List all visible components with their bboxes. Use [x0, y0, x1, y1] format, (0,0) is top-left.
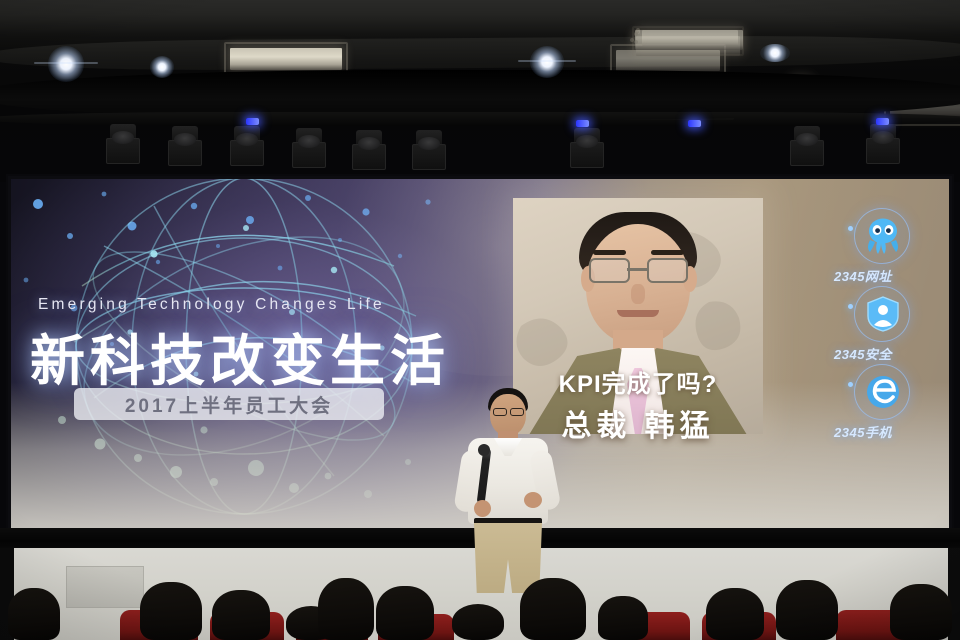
stage-light-fixture	[106, 124, 140, 164]
presenter-hand-left	[474, 500, 491, 517]
audience-head	[520, 578, 586, 640]
ceiling-band	[0, 35, 960, 72]
stage-light-fixture	[168, 126, 202, 166]
portrait-glasses-bridge	[627, 268, 649, 271]
audience-head	[452, 604, 504, 640]
product-logo-item: 2345安全	[830, 286, 952, 356]
stage-light-fixture	[866, 124, 900, 164]
presenter-glasses	[493, 408, 507, 416]
auditorium-ceiling	[0, 0, 960, 182]
product-logo-list: 2345网址 2345安全	[830, 208, 952, 442]
audience-head	[140, 582, 202, 640]
ceiling-spotlight	[150, 56, 174, 78]
ceiling-light-panel-frame	[634, 40, 638, 44]
ceiling-rail	[0, 112, 960, 126]
presenter-hand-right	[524, 492, 542, 508]
ceiling-spotlight	[530, 46, 564, 78]
octopus-icon	[864, 216, 902, 256]
product-logo-item: 2345网址	[830, 208, 952, 278]
stage-light-fixture	[570, 128, 604, 168]
portrait-nose	[631, 284, 645, 304]
stage-light-led	[246, 118, 259, 125]
ceiling-light-panel-frame	[634, 32, 638, 36]
audience-head	[706, 588, 764, 640]
portrait-eyebrow	[651, 250, 684, 255]
stage-light-fixture	[790, 126, 824, 166]
portrait-eyebrow	[593, 250, 626, 255]
slide-subtitle: 2017上半年员工大会	[74, 388, 384, 420]
portrait-mouth	[617, 310, 659, 317]
stage-light-fixture	[412, 130, 446, 170]
audience-head	[890, 584, 952, 640]
product-logo-label: 2345网址	[834, 266, 952, 285]
audience-head	[776, 580, 838, 640]
spotlight-flare	[518, 60, 576, 62]
stage-light-fixture	[292, 128, 326, 168]
audience-head	[598, 596, 648, 640]
stage-light-fixture	[230, 126, 264, 166]
audience-head	[8, 588, 60, 640]
product-logo-label: 2345手机	[834, 422, 952, 441]
product-logo-label: 2345安全	[834, 344, 952, 363]
slide-title: 新科技改变生活	[30, 316, 490, 396]
stage-light-led	[688, 120, 701, 127]
audience-head	[212, 590, 270, 640]
logo-orbit-dot	[848, 226, 853, 231]
microphone-head	[478, 444, 490, 456]
audience-head	[318, 578, 374, 640]
portrait-glasses	[647, 258, 688, 283]
ceiling-spotlight	[760, 44, 790, 62]
seated-audience	[0, 556, 960, 640]
spotlight-flare	[34, 62, 98, 64]
stage-light-fixture	[352, 130, 386, 170]
shield-icon	[866, 295, 900, 333]
logo-orbit-dot	[848, 382, 853, 387]
ceiling-spotlight	[48, 46, 84, 82]
stage-light-led	[576, 120, 589, 127]
audience-head	[376, 586, 434, 640]
ceiling-light-panel	[635, 30, 743, 50]
logo-orbit-dot	[848, 304, 853, 309]
stage-light-led	[876, 118, 889, 125]
auditorium-photo: Emerging Technology Changes Life 新科技改变生活…	[0, 0, 960, 640]
product-logo-item: 2345手机	[830, 364, 952, 434]
presenter-glasses	[510, 408, 524, 416]
portrait-glasses	[589, 258, 630, 283]
browser-e-icon	[864, 372, 902, 412]
ceiling-light-panel	[230, 48, 342, 70]
slide-english-tagline: Emerging Technology Changes Life	[38, 296, 468, 314]
